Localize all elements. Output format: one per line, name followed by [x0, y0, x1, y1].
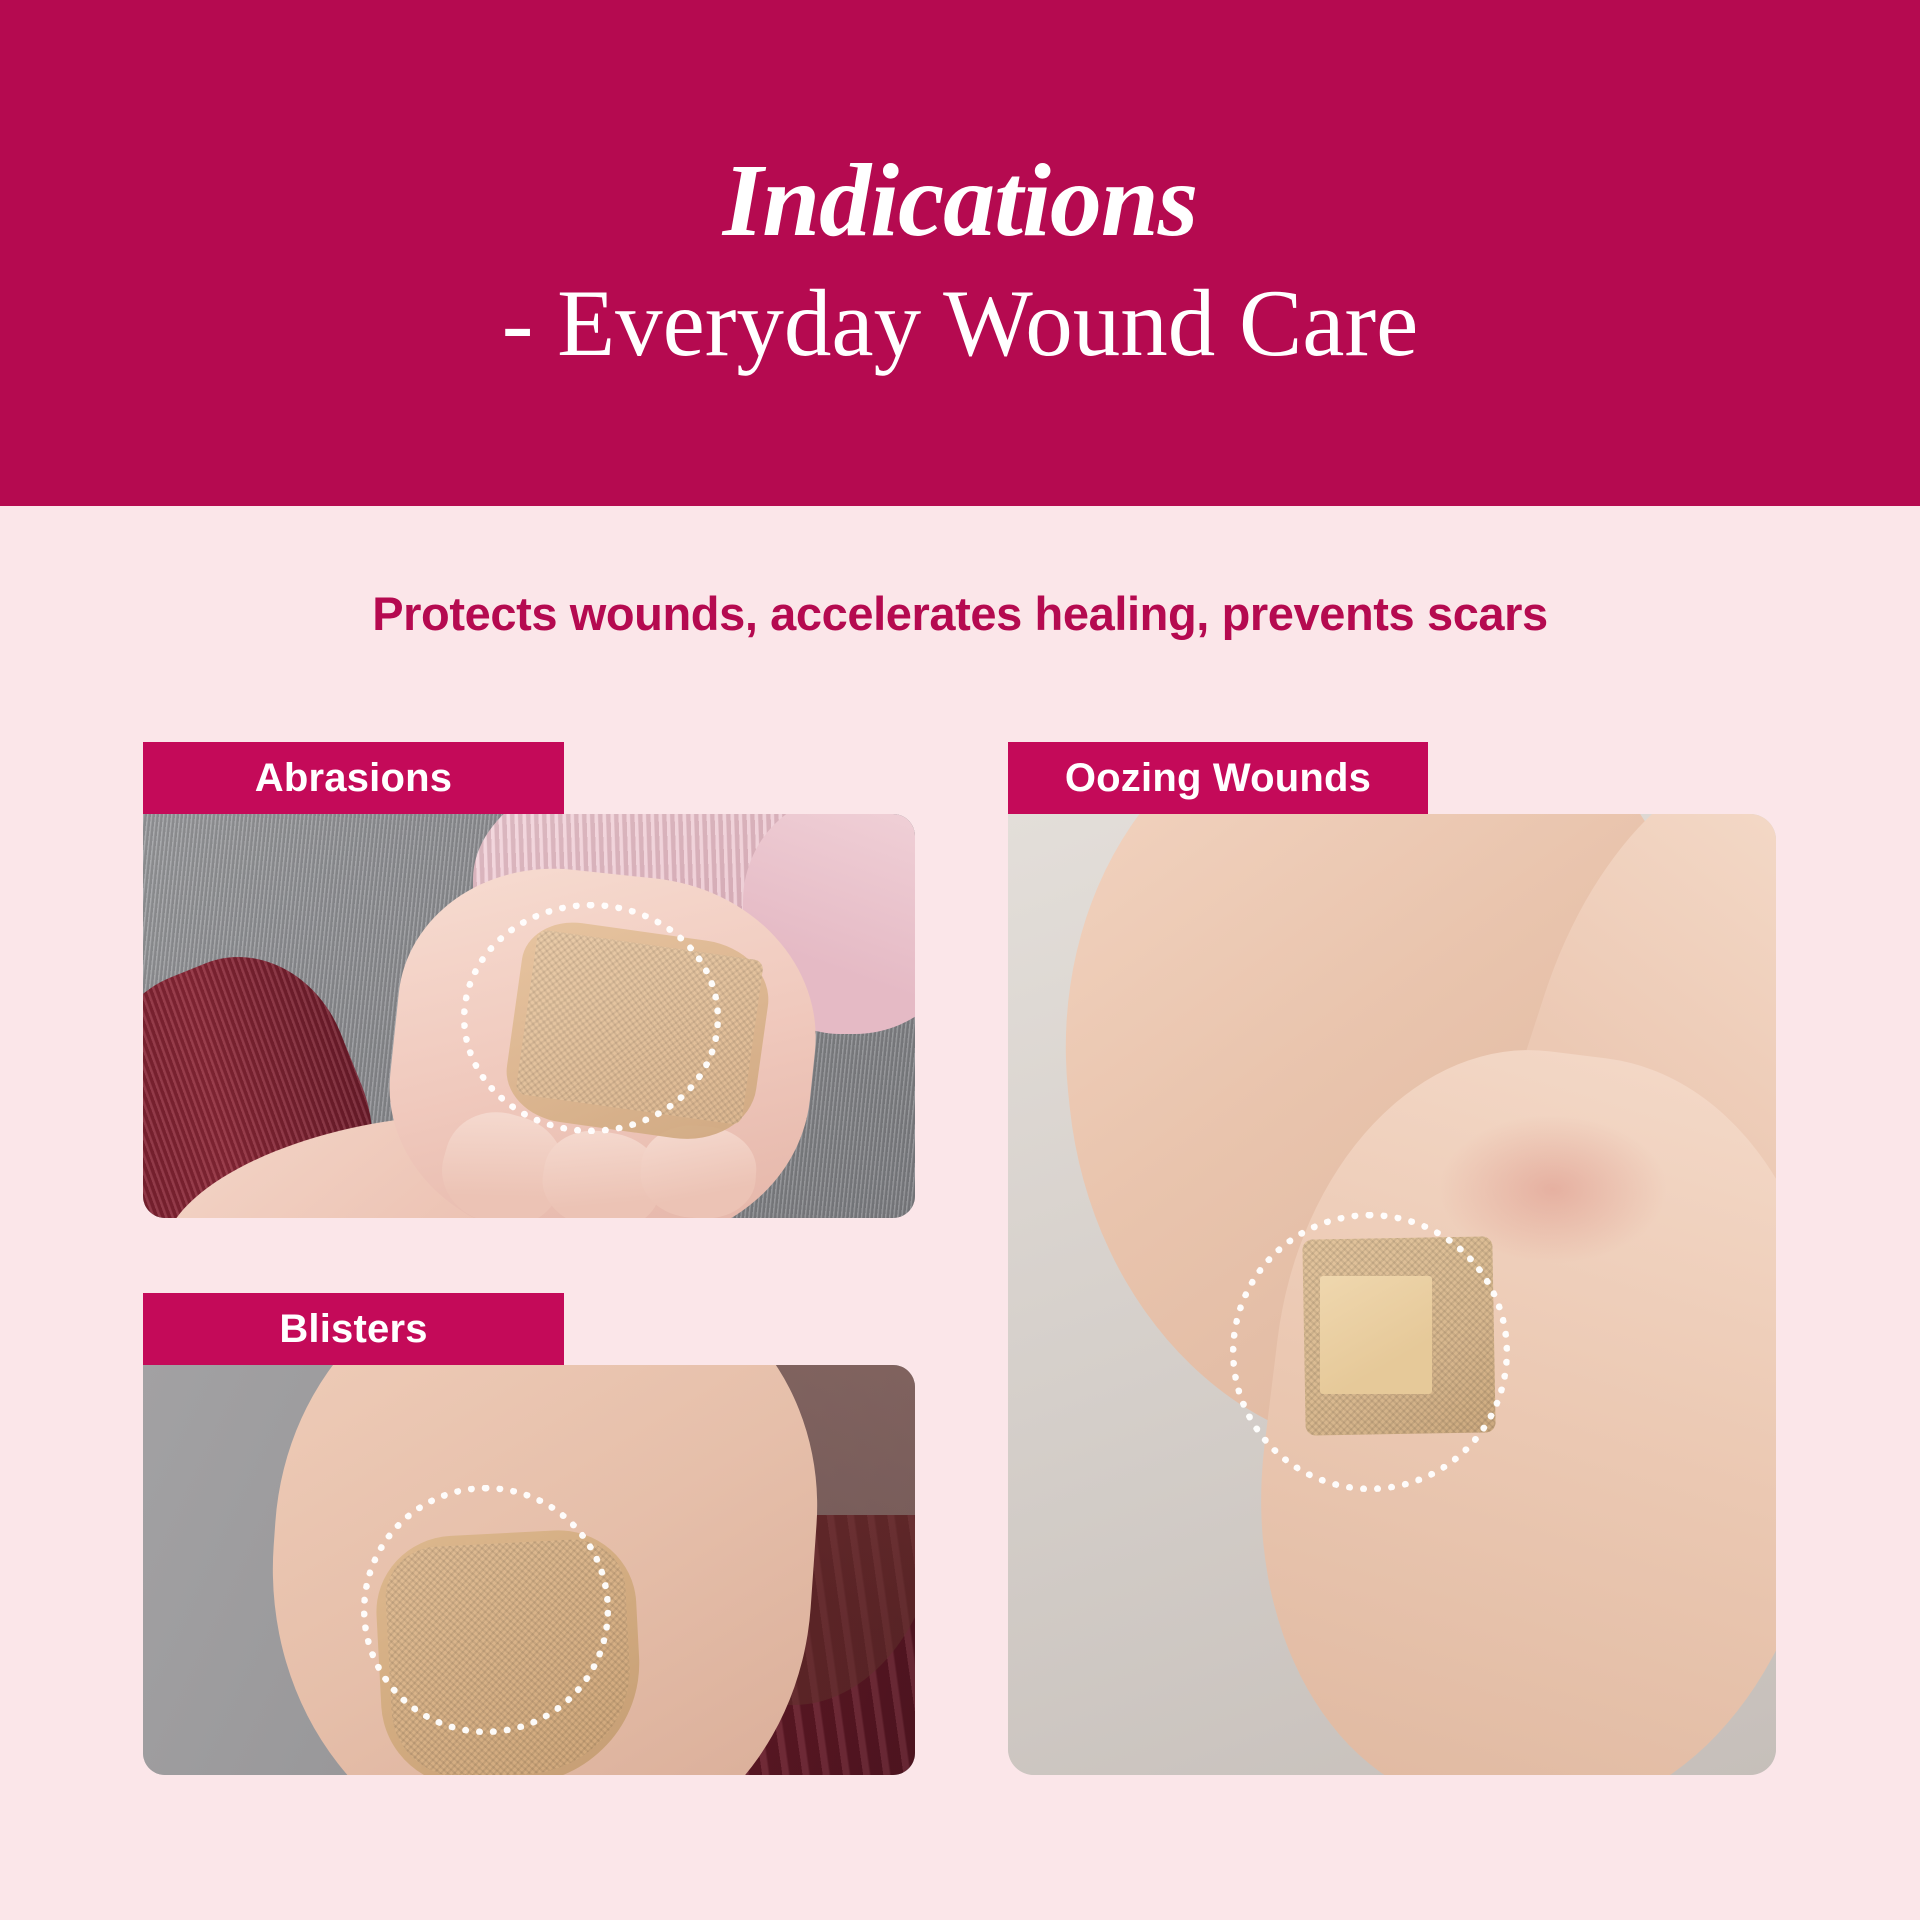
badge-blisters: Blisters: [143, 1293, 564, 1365]
badge-oozing-wounds: Oozing Wounds: [1008, 742, 1428, 814]
badge-abrasions: Abrasions: [143, 742, 564, 814]
page-title: Indications: [723, 149, 1197, 253]
bandage-pad: [1320, 1276, 1432, 1394]
badge-label-abrasions: Abrasions: [255, 756, 452, 801]
badge-label-oozing-wounds: Oozing Wounds: [1065, 756, 1371, 801]
photo-blisters: [143, 1365, 915, 1775]
photo-abrasions: [143, 814, 915, 1218]
photo-oozing-wounds: [1008, 814, 1776, 1775]
benefits-tagline: Protects wounds, accelerates healing, pr…: [0, 586, 1920, 641]
bandage-patch: [500, 916, 775, 1149]
header-band: Indications - Everyday Wound Care: [0, 0, 1920, 506]
page-subtitle: - Everyday Wound Care: [502, 267, 1419, 379]
bandage-patch: [373, 1526, 646, 1775]
badge-label-blisters: Blisters: [279, 1307, 427, 1352]
